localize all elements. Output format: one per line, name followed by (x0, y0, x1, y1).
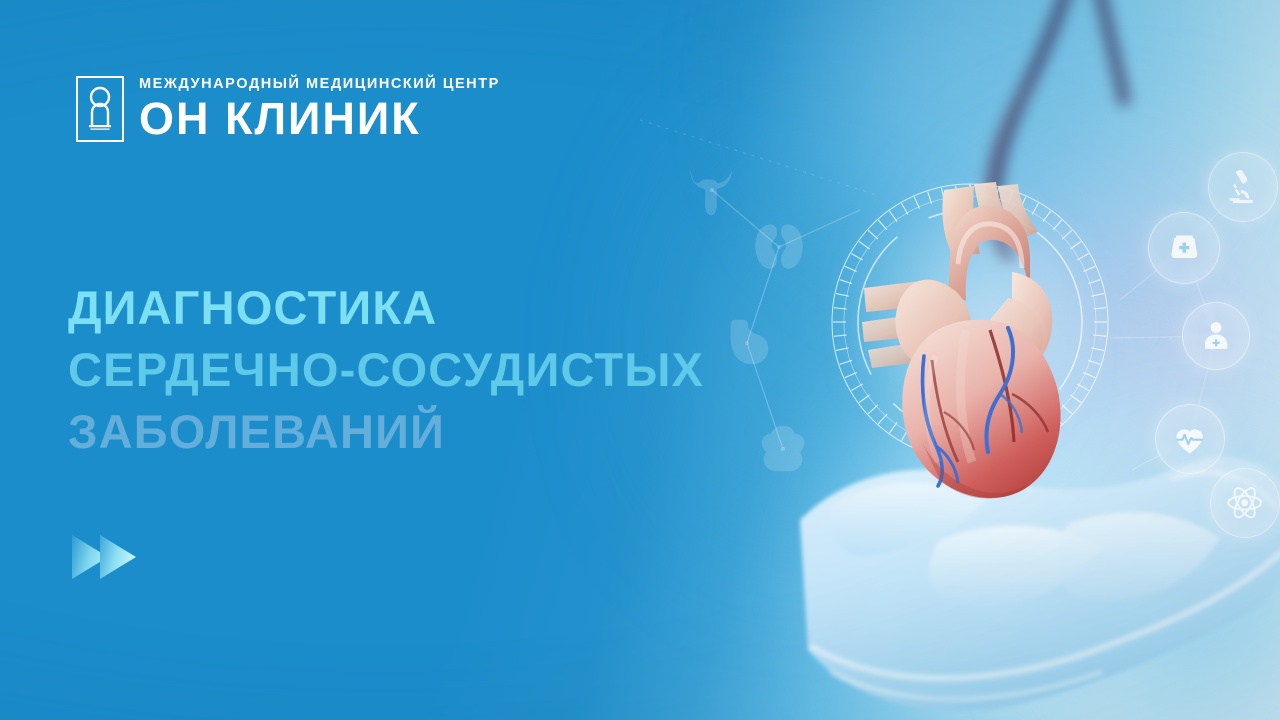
heart-pulse-icon (1170, 419, 1209, 458)
brand-logo[interactable]: МЕЖДУНАРОДНЫЙ МЕДИЦИНСКИЙ ЦЕНТР ОН КЛИНИ… (76, 76, 500, 142)
microscope-icon (1223, 167, 1262, 206)
headline-block: ДИАГНОСТИКА СЕРДЕЧНО-СОСУДИСТЫХ ЗАБОЛЕВА… (68, 277, 858, 463)
badge-microscope[interactable] (1208, 152, 1278, 222)
headline-line-1: ДИАГНОСТИКА (68, 277, 858, 339)
badge-nurse-cap[interactable] (1148, 212, 1220, 284)
atom-icon (1225, 483, 1264, 522)
badge-heart-pulse[interactable] (1155, 404, 1225, 474)
logo-title: ОН КЛИНИК (139, 96, 500, 141)
headline-line-3: ЗАБОЛЕВАНИЙ (68, 401, 858, 463)
double-chevron-right-icon[interactable] (70, 531, 146, 583)
badge-atom[interactable] (1210, 468, 1280, 538)
promo-banner: МЕЖДУНАРОДНЫЙ МЕДИЦИНСКИЙ ЦЕНТР ОН КЛИНИ… (0, 0, 1280, 720)
logo-subtitle: МЕЖДУНАРОДНЫЙ МЕДИЦИНСКИЙ ЦЕНТР (139, 77, 500, 92)
anatomical-heart-icon (862, 180, 1090, 510)
doctor-person-icon (1197, 317, 1235, 355)
badge-doctor[interactable] (1182, 302, 1250, 370)
logo-text-block: МЕЖДУНАРОДНЫЙ МЕДИЦИНСКИЙ ЦЕНТР ОН КЛИНИ… (139, 77, 500, 141)
headline-line-2: СЕРДЕЧНО-СОСУДИСТЫХ (68, 339, 858, 401)
on-clinic-monogram-icon (76, 76, 124, 142)
nurse-cap-icon (1164, 228, 1205, 269)
